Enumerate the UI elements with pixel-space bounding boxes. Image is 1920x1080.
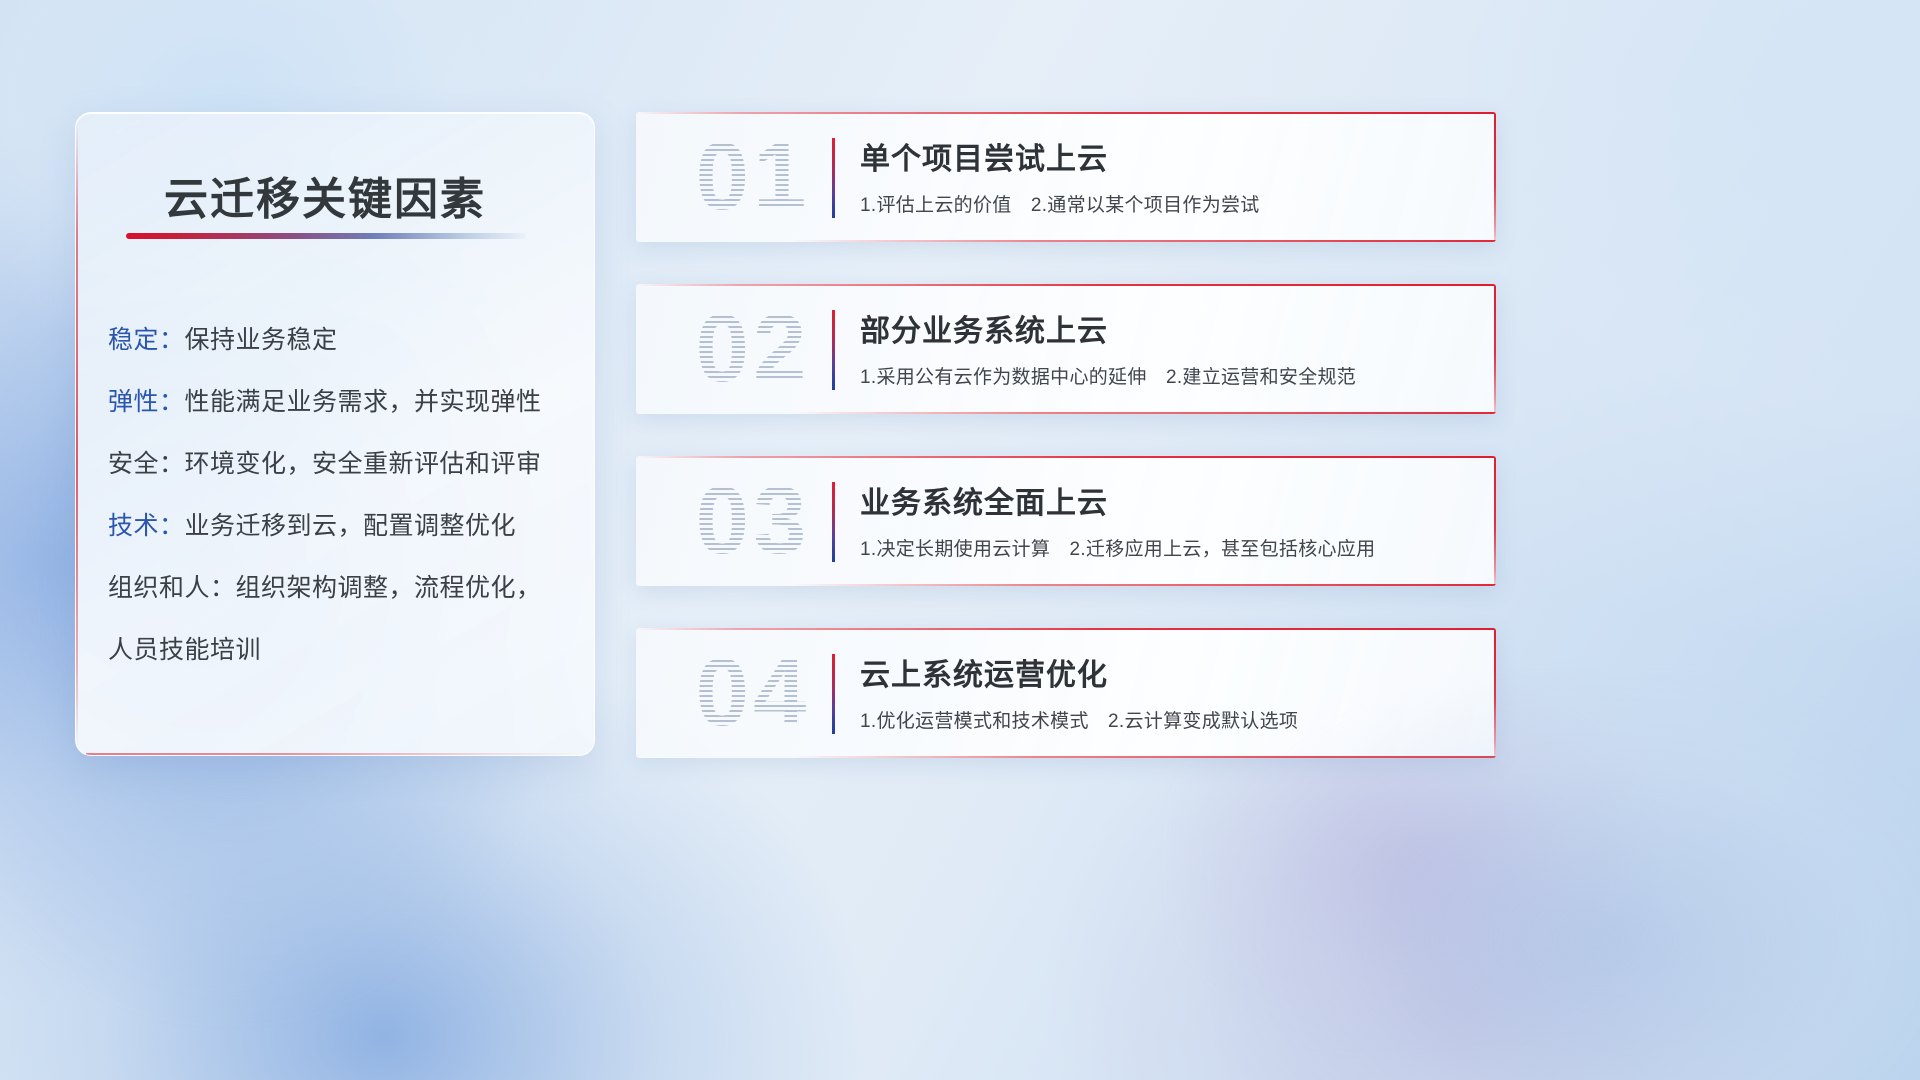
step-number: 01 (658, 114, 848, 240)
step-heading: 单个项目尝试上云 (860, 134, 1108, 178)
card-right-rule (1494, 284, 1496, 414)
step-number: 02 (658, 286, 848, 412)
step-divider-bar (832, 482, 835, 562)
panel-left-accent-line (76, 121, 78, 747)
factor-text: 环境变化，安全重新评估和评审 (185, 450, 542, 478)
card-right-rule (1494, 628, 1496, 758)
step-number: 04 (658, 630, 848, 756)
list-item: 人员技能培训 (108, 619, 574, 681)
factor-label: 稳定： (108, 326, 185, 354)
list-item: 技术：业务迁移到云，配置调整优化 (108, 495, 574, 557)
card-bottom-rule (791, 412, 1496, 414)
list-item: 弹性：性能满足业务需求，并实现弹性 (108, 371, 574, 433)
list-item: 稳定：保持业务稳定 (108, 309, 574, 371)
list-item: 安全：环境变化，安全重新评估和评审 (108, 433, 574, 495)
card-right-rule (1494, 456, 1496, 586)
step-number: 03 (658, 458, 848, 584)
step-description: 1.评估上云的价值 2.通常以某个项目作为尝试 (860, 190, 1260, 217)
step-card[interactable]: 01 单个项目尝试上云 1.评估上云的价值 2.通常以某个项目作为尝试 (636, 112, 1496, 242)
step-description: 1.决定长期使用云计算 2.迁移应用上云，甚至包括核心应用 (860, 534, 1375, 561)
step-heading: 云上系统运营优化 (860, 650, 1108, 694)
step-card[interactable]: 04 云上系统运营优化 1.优化运营模式和技术模式 2.云计算变成默认选项 (636, 628, 1496, 758)
factor-label: 组织和人： (108, 574, 236, 602)
step-divider-bar (832, 654, 835, 734)
factor-text: 业务迁移到云，配置调整优化 (185, 512, 517, 540)
panel-bottom-accent-line (86, 753, 584, 755)
step-description: 1.采用公有云作为数据中心的延伸 2.建立运营和安全规范 (860, 362, 1356, 389)
step-card[interactable]: 03 业务系统全面上云 1.决定长期使用云计算 2.迁移应用上云，甚至包括核心应… (636, 456, 1496, 586)
step-description: 1.优化运营模式和技术模式 2.云计算变成默认选项 (860, 706, 1298, 733)
slide-canvas: 云迁移关键因素 稳定：保持业务稳定 弹性：性能满足业务需求，并实现弹性 安全：环… (0, 0, 1920, 1080)
page-title: 云迁移关键因素 (164, 163, 486, 227)
factor-list: 稳定：保持业务稳定 弹性：性能满足业务需求，并实现弹性 安全：环境变化，安全重新… (108, 309, 574, 681)
title-underline-gradient (126, 233, 526, 239)
card-right-rule (1494, 112, 1496, 242)
card-bottom-rule (791, 584, 1496, 586)
factor-text: 性能满足业务需求，并实现弹性 (185, 388, 542, 416)
factor-label: 弹性： (108, 388, 185, 416)
list-item: 组织和人：组织架构调整，流程优化， (108, 557, 574, 619)
factor-text: 保持业务稳定 (185, 326, 338, 354)
factor-label: 技术： (108, 512, 185, 540)
step-card[interactable]: 02 部分业务系统上云 1.采用公有云作为数据中心的延伸 2.建立运营和安全规范 (636, 284, 1496, 414)
factor-label: 安全： (108, 450, 185, 478)
factor-text: 组织架构调整，流程优化， (236, 574, 542, 602)
step-divider-bar (832, 138, 835, 218)
step-divider-bar (832, 310, 835, 390)
factor-text: 人员技能培训 (108, 636, 261, 664)
step-heading: 部分业务系统上云 (860, 306, 1108, 350)
migration-steps-list: 01 单个项目尝试上云 1.评估上云的价值 2.通常以某个项目作为尝试 02 部… (636, 112, 1496, 800)
card-bottom-rule (791, 240, 1496, 242)
key-factors-panel: 云迁移关键因素 稳定：保持业务稳定 弹性：性能满足业务需求，并实现弹性 安全：环… (75, 112, 595, 756)
step-heading: 业务系统全面上云 (860, 478, 1108, 522)
card-bottom-rule (791, 756, 1496, 758)
